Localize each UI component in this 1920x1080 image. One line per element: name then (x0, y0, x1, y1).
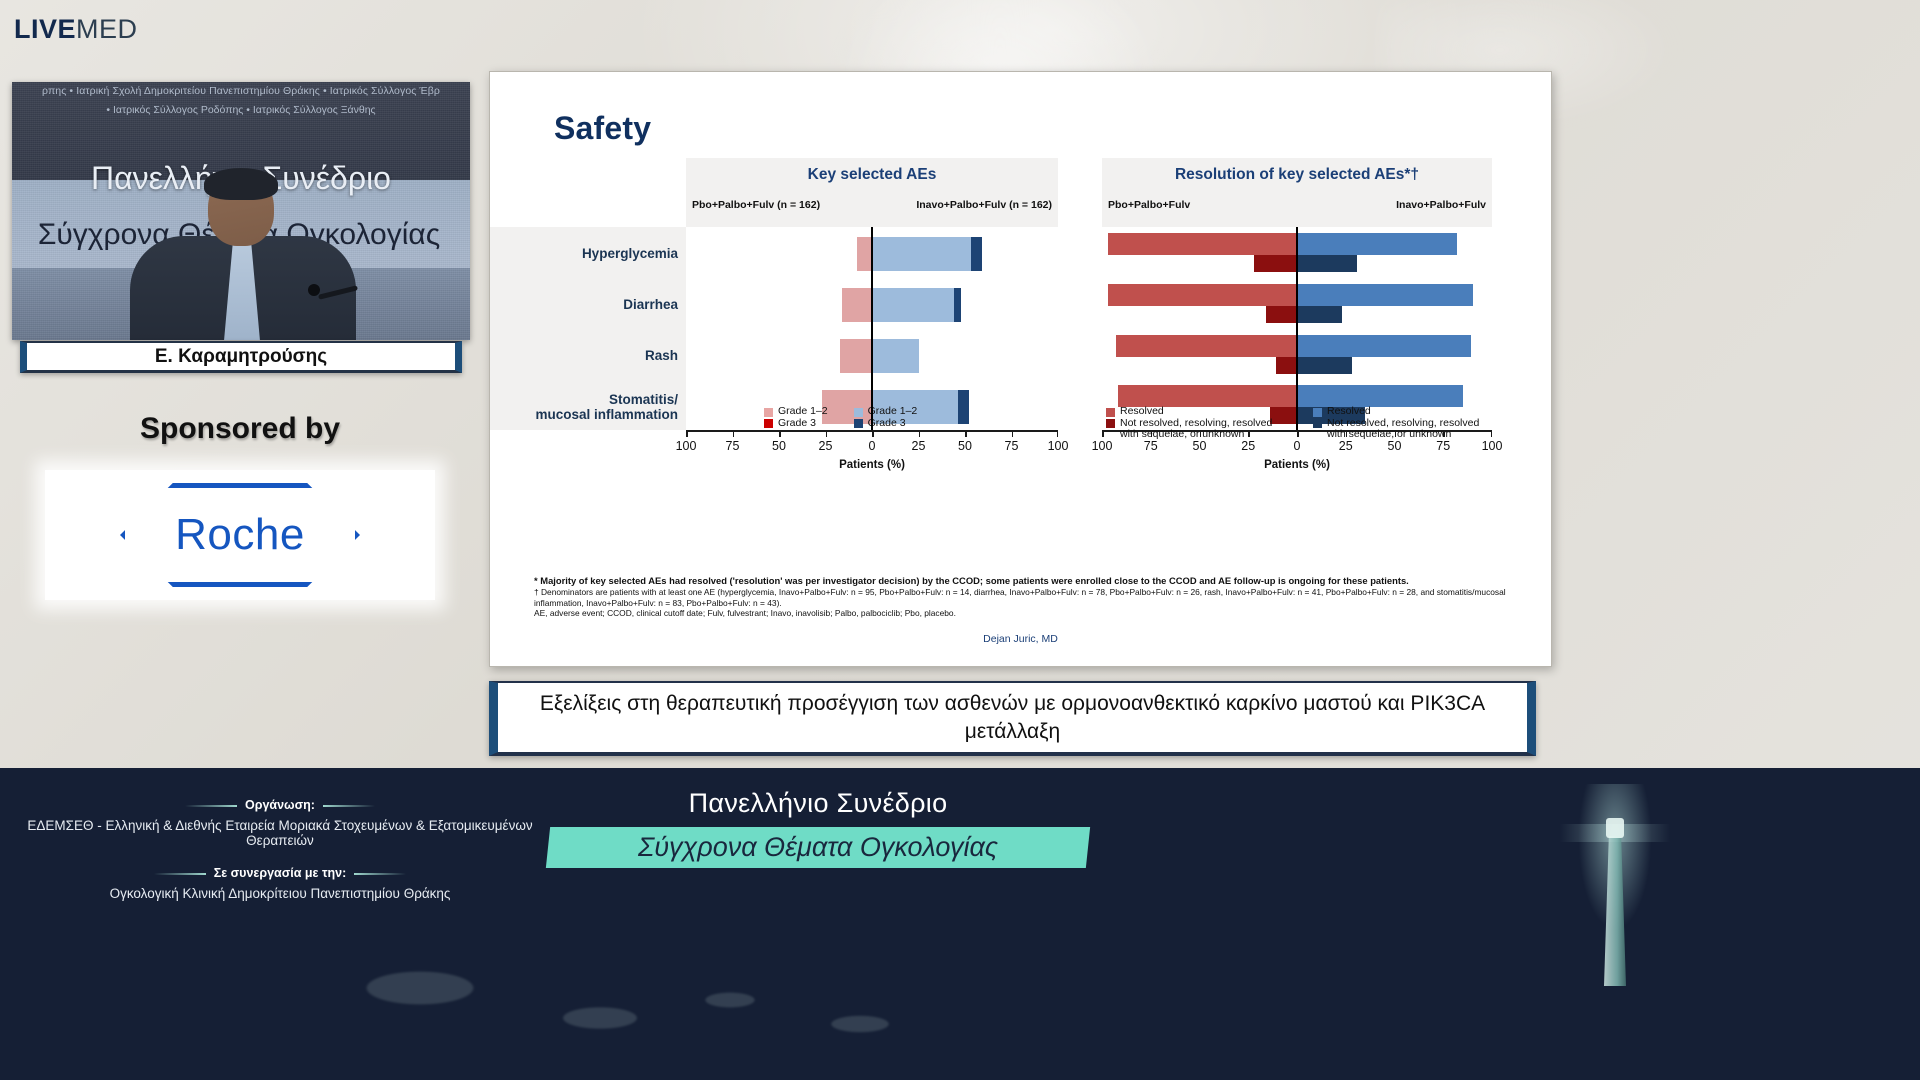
x-axis-tick (1012, 430, 1014, 437)
chart-header: Resolution of key selected AEs*† Pbo+Pal… (1102, 158, 1492, 227)
bar-pbo-not-resolved (1254, 255, 1297, 272)
chart-title: Resolution of key selected AEs*† (1102, 166, 1492, 184)
bar-pbo-not-resolved (1266, 306, 1297, 323)
organizer-value: ΕΔΕΜΣΕΘ - Ελληνική & Διεθνής Εταιρεία Μο… (0, 818, 560, 848)
bar-inavo-resolved (1297, 385, 1463, 407)
legend-swatch (764, 408, 773, 417)
legend-swatch (1313, 408, 1322, 417)
legend-swatch (854, 408, 863, 417)
session-title-banner: Εξελίξεις στη θεραπευτική προσέγγιση των… (489, 681, 1536, 756)
livemed-logo[interactable]: LIVEMED (14, 14, 138, 45)
x-axis-tick-label: 100 (1092, 439, 1113, 453)
zero-axis-line (871, 227, 873, 430)
bar-inavo-resolved (1297, 284, 1473, 306)
legend-swatches (854, 406, 863, 430)
legend-label: Not resolved, resolving, resolved with s… (1120, 418, 1285, 441)
x-axis-tick-label: 25 (1339, 439, 1353, 453)
x-axis-tick-label: 100 (1048, 439, 1069, 453)
conference-line-1: Πανελλήνιο Συνέδριο (548, 788, 1088, 819)
roche-wordmark: Roche (120, 483, 360, 587)
legend-label: Resolved (1120, 406, 1285, 418)
microphone-capsule (308, 284, 320, 296)
arm-label-left: Pbo+Palbo+Fulv (1108, 199, 1190, 211)
conference-ribbon: Σύγχρονα Θέματα Ογκολογίας (546, 827, 1090, 868)
ae-category-label: Stomatitis/mucosal inflammation (535, 393, 678, 423)
collaboration-value: Ογκολογική Κλινική Δημοκρίτειου Πανεπιστ… (0, 886, 560, 901)
chart-panel-resolution-of-key-selected-aes: Resolution of key selected AEs*† Pbo+Pal… (1102, 158, 1492, 478)
x-axis-tick-label: 75 (726, 439, 740, 453)
legend-swatches (764, 406, 773, 430)
bar-inavo-grade3 (971, 237, 982, 271)
video-overlay-line-1: ρπης • Ιατρική Σχολή Δημοκριτείου Πανεπι… (12, 85, 470, 97)
footnote-dagger: † Denominators are patients with at leas… (534, 587, 1529, 608)
bar-inavo-resolved (1297, 335, 1471, 357)
bar-inavo-not-resolved (1297, 306, 1342, 323)
legend-labels: ResolvedNot resolved, resolving, resolve… (1120, 406, 1285, 441)
page-footer: Οργάνωση: ΕΔΕΜΣΕΘ - Ελληνική & Διεθνής Ε… (0, 768, 1920, 1080)
chart-panel-key-selected-aes: Key selected AEs Pbo+Palbo+Fulv (n = 162… (686, 158, 1058, 478)
organizer-label: Οργάνωση: (245, 798, 315, 812)
bar-inavo-resolved (1297, 233, 1457, 255)
bar-inavo-grade12 (872, 339, 919, 373)
legend-swatch (854, 419, 863, 428)
legend-swatch (1106, 408, 1115, 417)
speaker-figure (130, 172, 356, 340)
legend-swatch (764, 419, 773, 428)
legend-group: ResolvedNot resolved, resolving, resolve… (1106, 406, 1285, 441)
bar-inavo-grade12 (872, 288, 954, 322)
x-axis-tick-label: 100 (1482, 439, 1503, 453)
x-axis-tick-label: 75 (1005, 439, 1019, 453)
x-axis-tick-label: 100 (676, 439, 697, 453)
slide-canvas: Safety HyperglycemiaDiarrheaRashStomatit… (489, 71, 1552, 667)
x-axis-tick (779, 430, 781, 437)
bar-pbo-grade12 (842, 288, 872, 322)
bar-inavo-grade3 (958, 390, 969, 424)
bar-pbo-grade12 (840, 339, 872, 373)
bar-inavo-grade3 (954, 288, 961, 322)
x-axis-tick-label: 50 (1388, 439, 1402, 453)
footer-organizers: Οργάνωση: ΕΔΕΜΣΕΘ - Ελληνική & Διεθνής Ε… (0, 796, 560, 917)
legend-labels: Grade 1–2Grade 3 (868, 406, 918, 429)
legend-label: Resolved (1327, 406, 1492, 418)
chart-legend: ResolvedNot resolved, resolving, resolve… (1106, 406, 1492, 441)
x-axis-tick-label: 50 (1193, 439, 1207, 453)
bar-pbo-resolved (1108, 284, 1297, 306)
session-title-text: Εξελίξεις στη θεραπευτική προσέγγιση των… (498, 690, 1527, 745)
legend-group: ResolvedNot resolved, resolving, resolve… (1313, 406, 1492, 441)
footnote-asterisk: * Majority of key selected AEs had resol… (534, 575, 1529, 586)
footnote-abbreviations: AE, adverse event; CCOD, clinical cutoff… (534, 608, 1529, 618)
x-axis-tick-label: 50 (958, 439, 972, 453)
x-axis-tick (965, 430, 967, 437)
video-overlay-line-2: • Ιατρικός Σύλλογος Ροδόπης • Ιατρικός Σ… (12, 104, 470, 116)
x-axis-title: Patients (%) (1102, 459, 1492, 471)
legend-label: Grade 3 (868, 418, 918, 430)
chart-arm-labels: Pbo+Palbo+Fulv (n = 162) Inavo+Palbo+Ful… (686, 199, 1058, 211)
x-axis-tick-label: 0 (1294, 439, 1301, 453)
bar-inavo-grade12 (872, 237, 971, 271)
legend-swatches (1313, 406, 1322, 430)
legend-group: Grade 1–2Grade 3 (764, 406, 828, 430)
footer-conference-branding: Πανελλήνιο Συνέδριο Σύγχρονα Θέματα Ογκο… (548, 788, 1088, 868)
bar-inavo-not-resolved (1297, 357, 1352, 374)
x-axis-tick (1102, 430, 1104, 437)
arm-label-right: Inavo+Palbo+Fulv (1396, 199, 1486, 211)
logo-live-text: LIVE (14, 14, 76, 44)
ae-category-label: Rash (645, 349, 678, 364)
x-axis-title: Patients (%) (686, 459, 1058, 471)
logo-med-text: MED (76, 14, 138, 44)
arm-label-right: Inavo+Palbo+Fulv (n = 162) (916, 199, 1052, 211)
speaker-video-player[interactable]: ρπης • Ιατρική Σχολή Δημοκριτείου Πανεπι… (12, 82, 470, 340)
legend-label: Not resolved, resolving, resolved with s… (1327, 418, 1492, 441)
legend-labels: ResolvedNot resolved, resolving, resolve… (1327, 406, 1492, 441)
slide-title: Safety (554, 110, 651, 147)
x-axis-tick (733, 430, 735, 437)
zero-axis-line (1296, 227, 1298, 430)
x-axis-tick (872, 430, 874, 437)
bar-inavo-not-resolved (1297, 255, 1357, 272)
bar-pbo-grade12 (857, 237, 872, 271)
bar-pbo-resolved (1108, 233, 1297, 255)
speaker-name: Ε. Καραμητρούσης (155, 346, 327, 368)
speaker-name-plate: Ε. Καραμητρούσης (20, 341, 462, 373)
arm-label-left: Pbo+Palbo+Fulv (n = 162) (692, 199, 820, 211)
chart-header: Key selected AEs Pbo+Palbo+Fulv (n = 162… (686, 158, 1058, 227)
x-axis-tick-label: 50 (772, 439, 786, 453)
conference-line-2: Σύγχρονα Θέματα Ογκολογίας (638, 832, 998, 863)
chart-title: Key selected AEs (686, 166, 1058, 184)
x-axis-tick (686, 430, 688, 437)
collaboration-label: Σε συνεργασία με την: (214, 866, 347, 880)
chart-arm-labels: Pbo+Palbo+Fulv Inavo+Palbo+Fulv (1102, 199, 1492, 211)
legend-swatches (1106, 406, 1115, 430)
x-axis-tick-label: 25 (912, 439, 926, 453)
lighthouse-lamp (1606, 818, 1624, 838)
chart-plot-area (686, 227, 1058, 430)
legend-label: Grade 1–2 (868, 406, 918, 418)
sponsored-by-label: Sponsored by (0, 412, 480, 446)
legend-swatch (1313, 419, 1322, 428)
legend-labels: Grade 1–2Grade 3 (778, 406, 828, 429)
legend-label: Grade 1–2 (778, 406, 828, 418)
bar-pbo-resolved (1118, 385, 1297, 407)
bar-pbo-resolved (1116, 335, 1297, 357)
x-axis-tick-label: 25 (1241, 439, 1255, 453)
legend-label: Grade 3 (778, 418, 828, 430)
lighthouse-icon (1560, 784, 1670, 1074)
legend-group: Grade 1–2Grade 3 (854, 406, 918, 430)
chart-plot-area (1102, 227, 1492, 430)
bar-pbo-not-resolved (1276, 357, 1297, 374)
speaker-hair (204, 168, 278, 200)
x-axis-tick (1057, 430, 1059, 437)
ae-category-label: Hyperglycemia (582, 247, 678, 262)
legend-swatch (1106, 419, 1115, 428)
roche-logo: Roche (120, 483, 360, 587)
x-axis-tick-label: 25 (819, 439, 833, 453)
ae-category-label: Diarrhea (623, 298, 678, 313)
chart-x-axis: Patients (%) 1007550250255075100 (686, 430, 1058, 478)
x-axis-tick-label: 0 (869, 439, 876, 453)
x-axis-tick (919, 430, 921, 437)
x-axis-tick (826, 430, 828, 437)
slide-footnotes: * Majority of key selected AEs had resol… (534, 575, 1529, 618)
sponsor-logo-box: Roche (45, 470, 435, 600)
chart-legend: Grade 1–2Grade 3Grade 1–2Grade 3 (764, 406, 917, 430)
ae-category-label-column: HyperglycemiaDiarrheaRashStomatitis/muco… (490, 227, 686, 430)
presenter-credit: Dejan Juric, MD (490, 633, 1551, 645)
x-axis-tick-label: 75 (1436, 439, 1450, 453)
x-axis-tick-label: 75 (1144, 439, 1158, 453)
